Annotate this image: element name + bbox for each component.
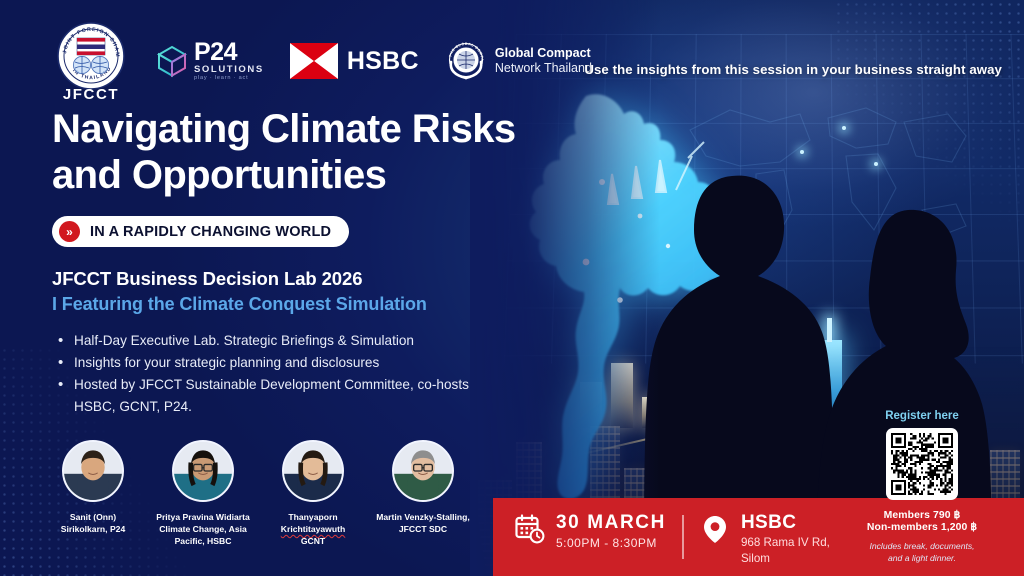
event-address-line1: 968 Rama IV Rd, (741, 535, 830, 551)
title-line2-text: and Opportunities (52, 153, 386, 197)
hsbc-wordmark: HSBC (347, 47, 419, 76)
registration-qr-code[interactable] (891, 433, 953, 495)
status-badge: » IN A RAPIDLY CHANGING WORLD (52, 216, 349, 247)
divider (682, 515, 684, 559)
event-date-block: 30 MARCH 5:00PM - 8:30PM (515, 512, 666, 551)
includes-note: Includes break, documents, and a light d… (862, 540, 982, 564)
event-address-line2: Silom (741, 551, 830, 567)
speaker-list: Sanit (Onn)Sirikolkarn, P24Pritya Pravin… (38, 440, 478, 548)
gcnt-line1: Global Compact (495, 46, 592, 61)
event-poster: JOINT FOREIGN CHAMBERS OF COMMERCE IN TH… (0, 0, 1024, 576)
registration-block: Register here Members 790 ฿ Non-members … (862, 410, 982, 564)
list-item: Half-Day Executive Lab. Strategic Briefi… (56, 330, 476, 352)
gcnt-logo: THE GLOBAL COMPACT Global Compact Networ… (445, 40, 592, 82)
header-tagline: Use the insights from this session in yo… (584, 62, 1002, 77)
price-nonmembers: Non-members 1,200 ฿ (862, 521, 982, 533)
speaker-card: Sanit (Onn)Sirikolkarn, P24 (38, 440, 148, 548)
hsbc-hexagon-icon (290, 43, 338, 79)
speaker-name: Thanyaporn KrichtitayawuthGCNT (258, 511, 368, 548)
avatar (62, 440, 124, 502)
includes-line1: Includes break, documents, (869, 541, 974, 551)
event-date: 30 MARCH (556, 512, 666, 533)
speaker-card: Martin Venzky-Stalling,JFCCT SDC (368, 440, 478, 548)
calendar-clock-icon (515, 514, 545, 544)
page-title: Navigating Climate Risks and Opportuniti… (52, 106, 522, 199)
includes-line2: and a light dinner. (888, 553, 956, 563)
avatar (282, 440, 344, 502)
speaker-card: Pritya Pravina WidiartaClimate Change, A… (148, 440, 258, 548)
speaker-card: Thanyaporn KrichtitayawuthGCNT (258, 440, 368, 548)
title-line-1: Navigating Climate Risks (52, 106, 522, 152)
qr-code-container[interactable] (886, 428, 958, 500)
register-here-label: Register here (862, 410, 982, 422)
svg-text:JFCCT: JFCCT (63, 86, 119, 102)
event-location-block: HSBC 968 Rama IV Rd, Silom (700, 512, 830, 567)
p24-tagline: play · learn · act (194, 76, 264, 82)
subtitle-primary: JFCCT Business Decision Lab 2026 (52, 268, 362, 290)
p24-cube-icon (156, 44, 188, 78)
list-item: Hosted by JFCCT Sustainable Development … (56, 374, 476, 418)
title-line1-text: Navigating Climate Risks (52, 107, 516, 151)
avatar (392, 440, 454, 502)
badge-label: IN A RAPIDLY CHANGING WORLD (90, 224, 331, 240)
hsbc-logo: HSBC (290, 43, 419, 79)
jfcct-logo: JOINT FOREIGN CHAMBERS OF COMMERCE IN TH… (52, 20, 130, 102)
gcnt-line2: Network Thailand (495, 61, 592, 76)
p24-logo: P24 SOLUTIONS play · learn · act (156, 40, 264, 82)
halftone-dots-top-right (834, 0, 1024, 260)
avatar (172, 440, 234, 502)
event-time: 5:00PM - 8:30PM (556, 535, 666, 551)
title-line-2: and Opportunities (52, 152, 522, 198)
event-venue: HSBC (741, 512, 830, 533)
feature-bullet-list: Half-Day Executive Lab. Strategic Briefi… (56, 330, 476, 419)
speaker-name: Pritya Pravina WidiartaClimate Change, A… (148, 511, 258, 548)
price-members: Members 790 ฿ (862, 509, 982, 521)
subtitle-secondary: I Featuring the Climate Conquest Simulat… (52, 294, 427, 315)
p24-solutions-text: SOLUTIONS (194, 65, 264, 75)
un-global-compact-icon: THE GLOBAL COMPACT (445, 40, 487, 82)
location-pin-icon (700, 514, 730, 544)
list-item: Insights for your strategic planning and… (56, 352, 476, 374)
partner-logo-row: JOINT FOREIGN CHAMBERS OF COMMERCE IN TH… (52, 22, 592, 100)
speaker-name: Martin Venzky-Stalling,JFCCT SDC (368, 511, 478, 535)
speaker-name: Sanit (Onn)Sirikolkarn, P24 (38, 511, 148, 535)
double-chevron-icon: » (59, 221, 80, 242)
p24-wordmark: P24 (194, 40, 264, 65)
